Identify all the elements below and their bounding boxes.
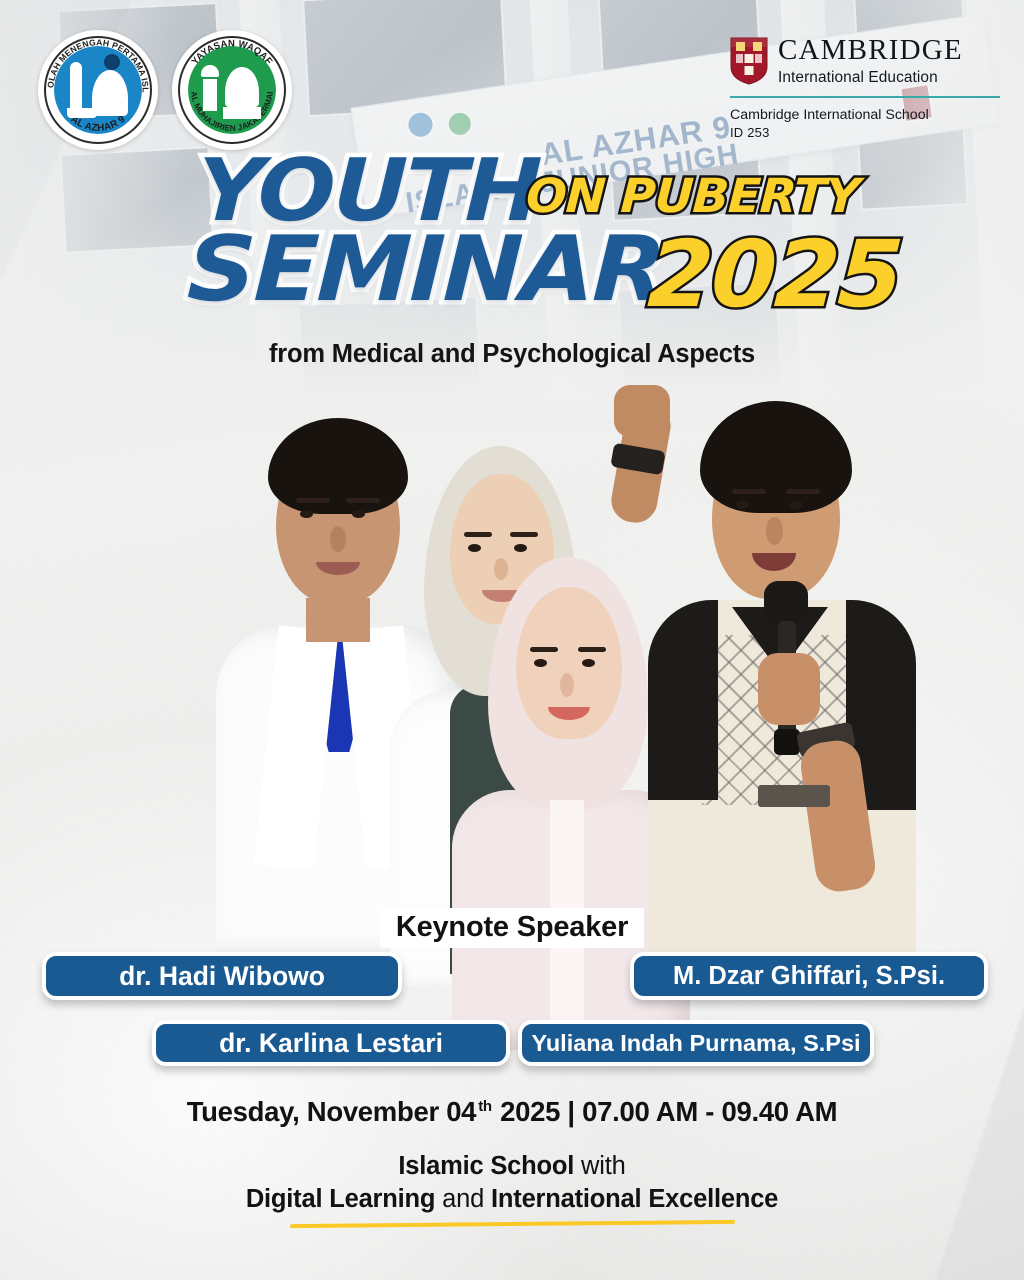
event-year-time: 2025 | 07.00 AM - 09.40 AM	[500, 1096, 837, 1127]
speaker-name-pill-2[interactable]: M. Dzar Ghiffari, S.Psi.	[630, 952, 988, 1000]
cambridge-school-line: Cambridge International School	[730, 107, 1000, 125]
cambridge-divider	[730, 96, 1000, 98]
poster-title: YOUTHON PUBERTY SEMINAR2025	[0, 152, 1024, 312]
event-date: Tuesday, November 04	[187, 1096, 477, 1127]
speaker-photo-4	[640, 385, 920, 960]
speaker-name-pill-1[interactable]: dr. Hadi Wibowo	[42, 952, 402, 1000]
cambridge-id-line: ID 253	[730, 125, 1000, 140]
event-datetime: Tuesday, November 04th 2025 | 07.00 AM -…	[0, 1096, 1024, 1128]
speaker-name-pill-3[interactable]: dr. Karlina Lestari	[152, 1020, 510, 1066]
title-word-on-puberty: ON PUBERTY	[525, 175, 860, 218]
tagline-and: and	[435, 1185, 491, 1213]
tagline-international-excellence: International Excellence	[491, 1185, 778, 1213]
school-tagline: Islamic School with Digital Learning and…	[0, 1152, 1024, 1226]
cambridge-logo-block: CAMBRIDGE International Education Cambri…	[730, 36, 1000, 140]
cambridge-subtitle: International Education	[778, 70, 963, 85]
mosque-icon	[64, 64, 132, 120]
keynote-speaker-label: Keynote Speaker	[0, 908, 1024, 948]
title-subtitle: from Medical and Psychological Aspects	[0, 340, 1024, 369]
title-word-2025: 2025	[646, 233, 903, 318]
tagline-islamic-school: Islamic School	[398, 1152, 574, 1180]
organization-logos: SEKOLAH MENENGAH PERTAMA ISLAM AL AZHAR …	[38, 30, 292, 150]
smp-al-azhar-9-logo: SEKOLAH MENENGAH PERTAMA ISLAM AL AZHAR …	[38, 30, 158, 150]
yayasan-waqaf-logo: YAYASAN WAQAF AL MUHAJIRIEN JAKAPERMAI	[172, 30, 292, 150]
speaker-photos	[0, 385, 1024, 955]
tagline-with: with	[574, 1152, 625, 1180]
cambridge-wordmark: CAMBRIDGE	[778, 36, 963, 65]
cambridge-shield-icon	[730, 37, 768, 85]
tagline-digital-learning: Digital Learning	[246, 1185, 435, 1213]
date-ordinal: th	[478, 1098, 492, 1115]
mosque-icon	[199, 63, 265, 121]
speaker-name-pill-4[interactable]: Yuliana Indah Purnama, S.Psi	[518, 1020, 874, 1066]
title-word-seminar: SEMINAR	[186, 229, 665, 312]
poster-canvas: AL AZHAR 9 ISLAMIC JUNIOR HIGH SEKOLAH M…	[0, 0, 1024, 1280]
keynote-speaker-text: Keynote Speaker	[380, 908, 644, 948]
